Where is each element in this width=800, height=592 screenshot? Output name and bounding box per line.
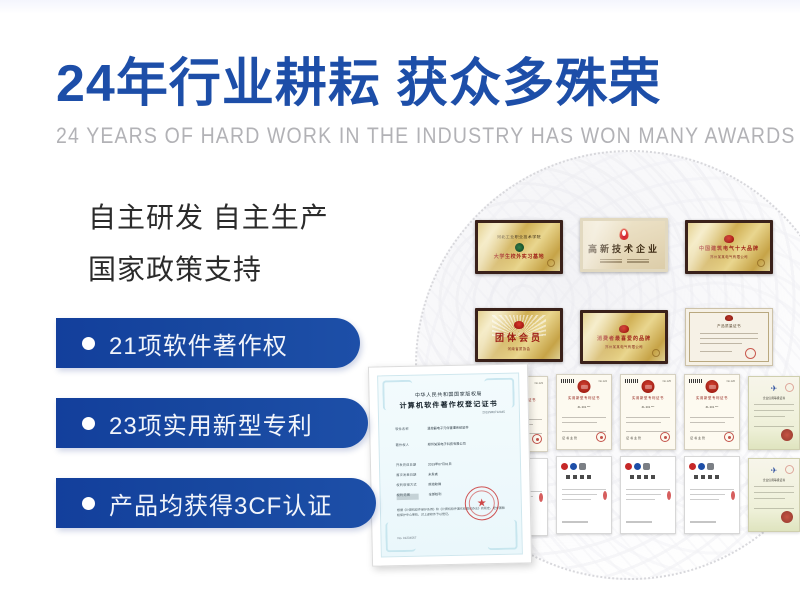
certificate-emblem-icon — [725, 315, 733, 321]
certificate-inner-panel: 中华人民共和国国家版权局 计算机软件著作权登记证书 2019SR0712345 … — [377, 373, 523, 558]
feature-banner-software-copyright[interactable]: 21项软件著作权 — [56, 318, 360, 368]
patent-signature: 证书主管 — [626, 436, 642, 440]
patent-seal-icon — [660, 432, 670, 442]
patent-seal-icon — [596, 432, 606, 442]
corner-ornament — [487, 520, 518, 551]
company-logo-icon: ✈ — [771, 385, 778, 393]
plaque-title: 中国建筑电气十大品牌 — [699, 245, 759, 252]
dot-bullet-icon — [82, 417, 95, 430]
field-label: 权利取得方式 — [396, 482, 416, 487]
feature-banner-utility-patents[interactable]: 23项实用新型专利 — [56, 398, 368, 448]
ccc-certification-card — [684, 456, 740, 534]
certificate-collage: 河北工业职业技术学院 大学生校外实习基地 高新技术企业 — [360, 180, 800, 592]
plaque-emblem-icon — [515, 243, 524, 252]
certificate-seal-icon — [781, 429, 793, 441]
national-emblem-icon — [578, 380, 591, 393]
feature-label: 21项软件著作权 — [109, 326, 288, 361]
certificate-title: 企业信用等级证书 — [749, 396, 799, 400]
plaque-subtitle: 郑州某某电气有限公司 — [605, 344, 643, 349]
field-value: 全部权利 — [429, 491, 442, 496]
plaque-title: 大学生校外实习基地 — [494, 253, 544, 260]
patent-seal-icon — [532, 434, 542, 444]
national-emblem-icon — [706, 380, 719, 393]
company-logo-icon: ✈ — [771, 467, 778, 475]
certificate-number: No. 01234567 — [397, 536, 416, 540]
body-text-line-1: 自主研发 自主生产 — [88, 196, 329, 236]
quality-certificate: ✈ 企业信用等级证书 — [748, 376, 800, 450]
certificate-ring-decor — [785, 465, 794, 474]
feature-banner-3cf-certification[interactable]: 产品均获得3CF认证 — [56, 478, 376, 528]
plaque-arc-text: 河北工业职业技术学院 — [497, 234, 541, 239]
certificate-ring-decor — [785, 383, 794, 392]
patent-signature: 证书主管 — [562, 436, 578, 440]
member-badge-icon — [514, 321, 524, 329]
plaque-seal-icon — [757, 259, 765, 267]
university-cooperation-plaque: 河北工业职业技术学院 大学生校外实习基地 — [475, 220, 563, 274]
brand-badge-icon — [724, 235, 734, 243]
field-label: 著作权人 — [396, 442, 410, 447]
flame-icon — [619, 228, 629, 240]
field-value: 未发表 — [428, 471, 438, 476]
top-ten-brand-plaque: 中国建筑电气十大品牌 郑州某某电气有限公司 — [685, 220, 773, 274]
field-value: 温控器电子元件管理系统软件 — [427, 425, 469, 431]
software-copyright-certificate: 中华人民共和国国家版权局 计算机软件著作权登记证书 2019SR0712345 … — [368, 363, 532, 566]
patent-code: No.125 — [663, 380, 671, 383]
patent-title: 实用新型专利证书 — [685, 395, 739, 400]
plaque-title: 消费者最喜爱的品牌 — [597, 335, 651, 342]
feature-label: 产品均获得3CF认证 — [109, 486, 332, 521]
plaque-subtitle: 郑州某某电气有限公司 — [710, 254, 748, 259]
patent-certificate: No.125 实用新型专利证书 ZL 201 *** 证书主管 — [620, 374, 676, 450]
promo-banner: 河北工业职业技术学院 大学生校外实习基地 高新技术企业 — [0, 0, 800, 592]
honor-paper-certificate: 产品质量证书 — [685, 308, 773, 366]
field-label: 软件名称 — [395, 426, 409, 431]
certificate-seal-icon — [745, 348, 756, 359]
patent-code: No.124 — [599, 380, 607, 383]
top-gradient-wash — [0, 0, 800, 14]
patent-title: 实用新型专利证书 — [621, 395, 675, 400]
dot-bullet-icon — [82, 337, 95, 350]
patent-title: 实用新型专利证书 — [557, 395, 611, 400]
plaque-issuer-lines — [600, 259, 649, 263]
certificate-title: 企业信用等级证书 — [749, 478, 799, 482]
quality-certificate: ✈ 企业信用等级证书 — [748, 458, 800, 532]
patent-sub: ZL 201 *** — [621, 405, 675, 409]
certificate-seal-icon — [781, 511, 793, 523]
dot-bullet-icon — [82, 497, 95, 510]
certificate-title: 产品质量证书 — [717, 324, 741, 329]
field-value: 郑州某某电子科技有限公司 — [428, 441, 466, 447]
patent-signature: 证书主管 — [690, 436, 706, 440]
plaque-title: 团体会员 — [495, 331, 543, 345]
page-title: 24年行业耕耘 获众多殊荣 — [56, 58, 756, 110]
patent-seal-icon — [724, 432, 734, 442]
plaque-seal-icon — [547, 259, 555, 267]
patent-sub: ZL 201 *** — [685, 405, 739, 409]
patent-code: No.126 — [727, 380, 735, 383]
plaque-subtitle: 河南省质协会 — [508, 346, 531, 351]
certificate-stamp-box — [397, 494, 419, 500]
certificate-code: 2019SR0712345 — [482, 410, 505, 414]
national-emblem-icon — [642, 380, 655, 393]
high-tech-enterprise-plaque: 高新技术企业 — [580, 218, 668, 272]
patent-sub: ZL 201 *** — [557, 405, 611, 409]
field-value: 2019年07月01日 — [428, 461, 452, 466]
ccc-certification-card — [556, 456, 612, 534]
plaque-title: 高新技术企业 — [588, 242, 660, 255]
body-text-line-2: 国家政策支持 — [88, 248, 262, 288]
plaque-seal-icon — [652, 349, 660, 357]
field-value: 原始取得 — [428, 481, 441, 486]
patent-certificate: No.126 实用新型专利证书 ZL 201 *** 证书主管 — [684, 374, 740, 450]
group-member-plaque: 团体会员 河南省质协会 — [475, 308, 563, 362]
field-label: 开发完成日期 — [396, 462, 416, 467]
patent-certificate: No.124 实用新型专利证书 ZL 201 *** 证书主管 — [556, 374, 612, 450]
ccc-certification-card — [620, 456, 676, 534]
official-red-seal — [464, 486, 499, 521]
famous-brand-plaque: 消费者最喜爱的品牌 郑州某某电气有限公司 — [580, 310, 668, 364]
field-label: 首次发表日期 — [396, 472, 416, 477]
patent-code: No.123 — [535, 382, 543, 385]
page-subtitle: 24 YEARS OF HARD WORK IN THE INDUSTRY HA… — [56, 124, 756, 150]
feature-label: 23项实用新型专利 — [109, 406, 313, 441]
brand-badge-icon — [619, 325, 629, 333]
